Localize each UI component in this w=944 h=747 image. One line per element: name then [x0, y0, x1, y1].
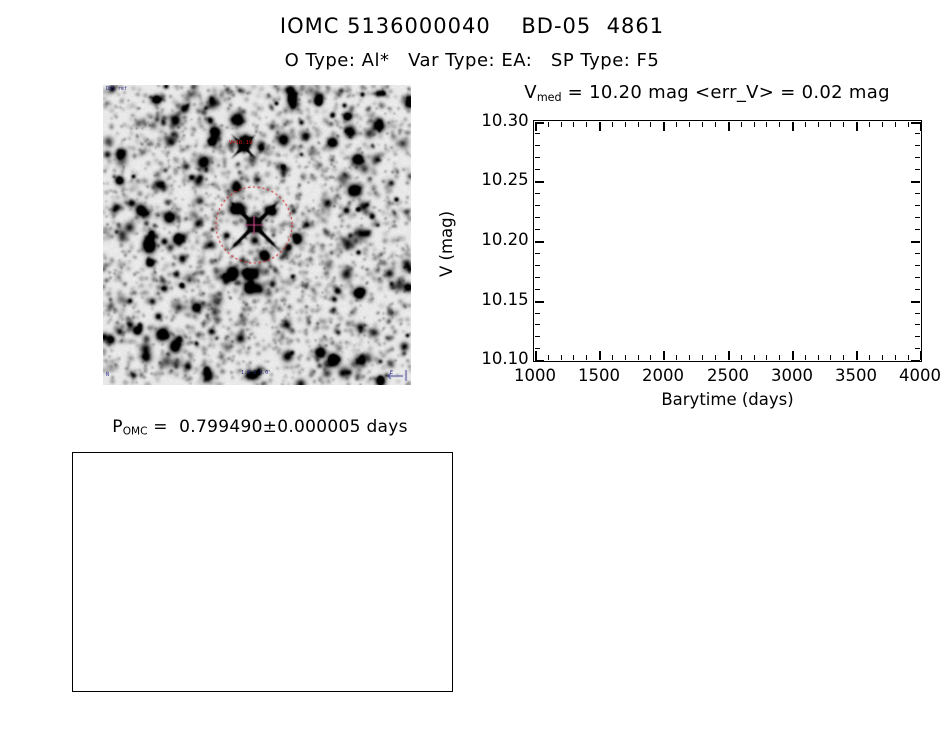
y-tick-label: 10.25 [445, 170, 529, 189]
axis-tick [818, 355, 819, 360]
axis-tick [911, 241, 920, 243]
axis-tick [915, 217, 920, 218]
axis-tick [535, 348, 540, 349]
axis-tick [663, 351, 665, 360]
axis-tick [741, 355, 742, 360]
axis-tick [915, 145, 920, 146]
page-title: IOMC 5136000040 BD-05 4861 [0, 14, 944, 38]
lightcurve-time-points [534, 121, 920, 360]
axis-tick [663, 122, 665, 131]
axis-tick [915, 193, 920, 194]
axis-tick [561, 355, 562, 360]
axis-tick [843, 355, 844, 360]
period-line: POMC = 0.799490±0.000005 days [30, 417, 490, 438]
axis-tick [650, 122, 651, 127]
y-tick-label: 10.20 [445, 230, 529, 249]
axis-tick [792, 122, 794, 131]
axis-tick [915, 169, 920, 170]
axis-tick [548, 355, 549, 360]
axis-tick [535, 241, 544, 243]
axis-tick [843, 122, 844, 127]
axis-tick [625, 122, 626, 127]
axis-tick [754, 355, 755, 360]
axis-tick [535, 122, 544, 124]
axis-tick [535, 157, 540, 158]
x-axis-label: Barytime (days) [661, 390, 793, 409]
axis-tick [535, 277, 540, 278]
axis-tick [535, 181, 544, 183]
axis-tick [535, 324, 540, 325]
axis-tick [702, 122, 703, 127]
axis-tick [676, 355, 677, 360]
axis-tick [535, 229, 540, 230]
axis-tick [911, 301, 920, 303]
axis-tick [915, 205, 920, 206]
x-tick-label: 4000 [874, 366, 944, 385]
axis-tick [869, 355, 870, 360]
y-axis-label: V (mag) [437, 211, 456, 277]
period-text: = 0.799490±0.000005 days [153, 417, 408, 437]
lightcurve-time-plot [533, 120, 922, 362]
period-subscript: OMC [123, 426, 148, 438]
axis-tick [741, 122, 742, 127]
axis-tick [535, 289, 540, 290]
axis-tick [856, 351, 858, 360]
axis-tick [779, 122, 780, 127]
finder-label-star: V=10.19 [229, 141, 252, 147]
axis-tick [548, 122, 549, 127]
axis-tick [715, 355, 716, 360]
axis-tick [535, 301, 544, 303]
axis-tick [915, 253, 920, 254]
axis-tick [766, 355, 767, 360]
axis-tick [882, 122, 883, 127]
axis-tick [915, 336, 920, 337]
axis-tick [818, 122, 819, 127]
axis-tick [779, 355, 780, 360]
axis-tick [535, 145, 540, 146]
axis-tick [535, 205, 540, 206]
y-tick-label: 10.10 [445, 349, 529, 368]
finder-label-topleft: DSS ref [106, 87, 127, 92]
axis-tick [915, 324, 920, 325]
axis-tick [915, 313, 920, 314]
vmed-subscript: med [537, 91, 562, 104]
axis-tick [535, 313, 540, 314]
finder-chart-image [103, 85, 411, 385]
axis-tick [599, 351, 601, 360]
axis-tick [882, 355, 883, 360]
axis-tick [915, 348, 920, 349]
axis-tick [535, 217, 540, 218]
axis-tick [895, 122, 896, 127]
axis-tick [599, 122, 601, 131]
finder-chart: DSS ref V=10.19 N 1.0'x 1.0' E [103, 85, 411, 385]
axis-tick [754, 122, 755, 127]
axis-tick [535, 265, 540, 266]
axis-tick [715, 122, 716, 127]
finder-label-east: E [390, 371, 393, 376]
axis-tick [915, 265, 920, 266]
axis-tick [535, 360, 544, 362]
axis-tick [702, 355, 703, 360]
axis-tick [792, 351, 794, 360]
axis-tick [908, 122, 909, 127]
axis-tick [689, 122, 690, 127]
axis-tick [638, 122, 639, 127]
axis-tick [915, 229, 920, 230]
axis-tick [805, 122, 806, 127]
axis-tick [915, 157, 920, 158]
axis-tick [586, 122, 587, 127]
finder-label-north: N [106, 373, 109, 378]
object-types-line: O Type: Al* Var Type: EA: SP Type: F5 [0, 50, 944, 71]
axis-tick [535, 193, 540, 194]
axis-tick [535, 169, 540, 170]
axis-tick [676, 122, 677, 127]
axis-tick [535, 336, 540, 337]
axis-tick [728, 351, 730, 360]
axis-tick [869, 122, 870, 127]
axis-tick [915, 277, 920, 278]
axis-tick [535, 133, 540, 134]
axis-tick [830, 122, 831, 127]
y-tick-label: 10.15 [445, 290, 529, 309]
axis-tick [728, 122, 730, 131]
lightcurve-phase-points [73, 453, 451, 690]
axis-tick [573, 122, 574, 127]
axis-tick [911, 360, 920, 362]
vmed-text: = 10.20 mag <err_V> = 0.02 mag [568, 82, 890, 103]
axis-tick [911, 122, 920, 124]
axis-tick [805, 355, 806, 360]
axis-tick [689, 355, 690, 360]
finder-label-scale: 1.0'x 1.0' [241, 371, 271, 376]
axis-tick [612, 355, 613, 360]
axis-tick [625, 355, 626, 360]
axis-tick [895, 355, 896, 360]
period-symbol: P [112, 417, 123, 437]
vmed-symbol: V [524, 82, 537, 103]
axis-tick [573, 355, 574, 360]
axis-tick [856, 122, 858, 131]
axis-tick [915, 133, 920, 134]
axis-tick [650, 355, 651, 360]
axis-tick [586, 355, 587, 360]
axis-tick [908, 355, 909, 360]
axis-tick [561, 122, 562, 127]
axis-tick [638, 355, 639, 360]
y-tick-label: 10.30 [445, 111, 529, 130]
axis-tick [612, 122, 613, 127]
axis-tick [911, 181, 920, 183]
axis-tick [830, 355, 831, 360]
vmed-line: Vmed = 10.20 mag <err_V> = 0.02 mag [470, 82, 944, 104]
axis-tick [915, 289, 920, 290]
axis-tick [535, 253, 540, 254]
lightcurve-phase-plot [72, 452, 453, 692]
axis-tick [766, 122, 767, 127]
